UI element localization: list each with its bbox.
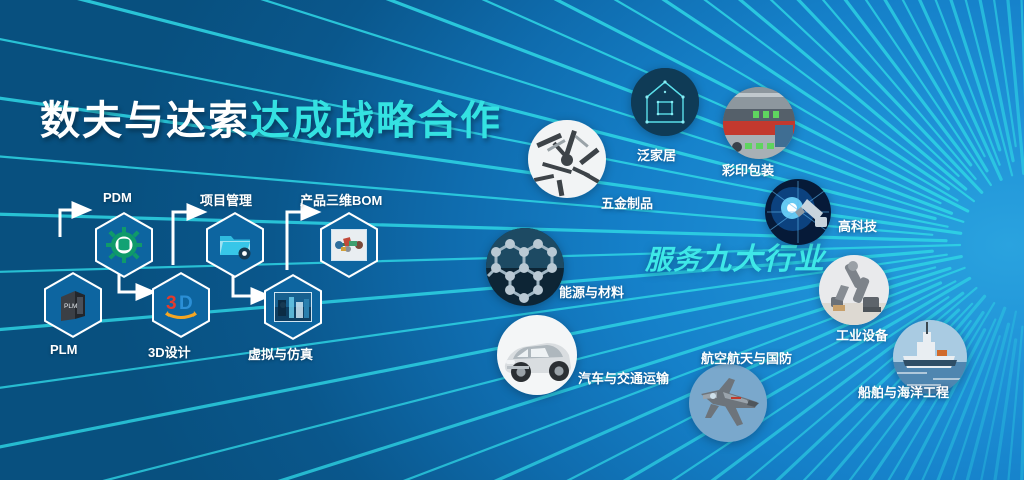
industry-bubble-hardware[interactable] (528, 120, 606, 198)
plm-flow-diagram: PLM PLM (0, 0, 440, 400)
folder-gear-icon (215, 225, 255, 265)
flow-label-simulation: 虚拟与仿真 (248, 344, 313, 363)
robot-circuit-icon (765, 179, 831, 245)
robot-arm-icon (819, 255, 889, 325)
industry-bubble-equipment[interactable] (819, 255, 889, 325)
industry-bubble-hightech[interactable] (765, 179, 831, 245)
flow-node-simulation[interactable] (264, 274, 322, 340)
industry-bubble-smart-home[interactable] (631, 68, 699, 136)
svg-text:3: 3 (166, 293, 177, 314)
3d-design-icon: 3 D (161, 285, 201, 325)
industry-label-aerospace: 航空航天与国防 (701, 348, 792, 367)
industry-label-automotive: 汽车与交通运输 (578, 368, 669, 387)
flow-node-pdm[interactable] (95, 212, 153, 278)
house-network-icon (631, 68, 699, 136)
promo-banner: 数夫与达索达成战略合作 (0, 0, 1024, 480)
serve-prefix: 服务 (645, 245, 701, 275)
industry-label-hardware: 五金制品 (601, 193, 653, 212)
molecule-lattice-icon (486, 228, 564, 306)
flow-node-bom[interactable] (320, 212, 378, 278)
flow-node-3d-design[interactable]: 3 D (152, 272, 210, 338)
industry-label-marine: 船舶与海洋工程 (858, 382, 949, 401)
flow-label-bom: 产品三维BOM (300, 190, 382, 209)
industry-label-smart-home: 泛家居 (637, 145, 676, 164)
industry-label-hightech: 高科技 (838, 216, 877, 235)
flow-node-plm[interactable]: PLM (44, 272, 102, 338)
svg-text:D: D (179, 293, 193, 314)
gear-database-icon (104, 225, 144, 265)
fighter-jet-icon (689, 364, 767, 442)
printing-press-icon (723, 87, 795, 159)
industry-bubble-automotive[interactable] (497, 315, 577, 395)
flow-label-plm: PLM (50, 342, 77, 357)
industry-label-equipment: 工业设备 (836, 325, 888, 344)
industry-label-energy: 能源与材料 (559, 282, 624, 301)
flow-node-project-management[interactable] (206, 212, 264, 278)
flow-label-project-management: 项目管理 (200, 190, 252, 209)
industry-label-printing: 彩印包装 (722, 160, 774, 179)
server-icon: PLM (53, 285, 93, 325)
industry-bubble-energy[interactable] (486, 228, 564, 306)
simulation-photo-icon (274, 292, 312, 322)
hardware-parts-icon (528, 120, 606, 198)
serve-emphasis: 九大行业 (701, 243, 825, 276)
flow-label-3d-design: 3D设计 (148, 342, 191, 361)
svg-text:PLM: PLM (64, 303, 77, 310)
flow-label-pdm: PDM (103, 190, 132, 205)
car-icon (497, 315, 577, 395)
bom-assembly-icon (331, 229, 367, 261)
industry-bubble-printing[interactable] (723, 87, 795, 159)
industry-bubble-aerospace[interactable] (689, 364, 767, 442)
